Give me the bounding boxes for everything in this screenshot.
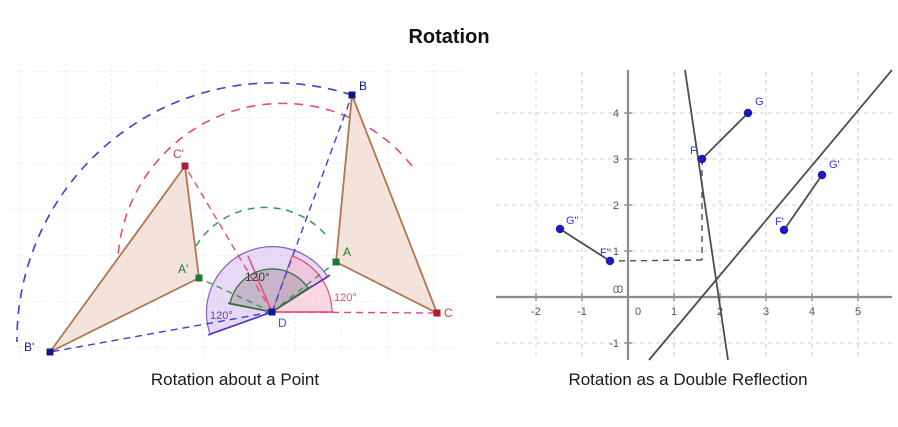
label-fdprime: F'' xyxy=(600,247,611,259)
right-canvas-background xyxy=(478,62,898,362)
label-g: G xyxy=(755,96,764,108)
y-tick-label-3: 1 xyxy=(613,246,619,258)
right-diagram-svg: -2 -1 0 1 2 3 4 5 4 3 2 1 0 -1 F G F' G'… xyxy=(478,62,898,362)
label-d: D xyxy=(278,316,287,330)
label-aprime: A' xyxy=(178,262,188,276)
point-gdprime[interactable] xyxy=(556,225,564,233)
label-c: C xyxy=(444,306,453,320)
label-bprime: B' xyxy=(24,340,34,354)
label-gprime: G' xyxy=(829,159,840,171)
point-gprime[interactable] xyxy=(818,171,826,179)
vertex-c[interactable] xyxy=(434,310,441,317)
vertex-b[interactable] xyxy=(349,92,356,99)
vertex-bprime[interactable] xyxy=(47,349,54,356)
label-a: A xyxy=(343,245,351,259)
rotation-as-a-double-reflection-figure: -2 -1 0 1 2 3 4 5 4 3 2 1 0 -1 F G F' G'… xyxy=(478,62,898,362)
y-tick-label-5: -1 xyxy=(609,338,619,350)
y-tick-label-2: 2 xyxy=(613,200,619,212)
point-g[interactable] xyxy=(744,109,752,117)
x-tick-label-1: -1 xyxy=(577,306,587,318)
label-b: B xyxy=(359,79,367,93)
caption-rotation-as-double-reflection: Rotation as a Double Reflection xyxy=(478,370,898,390)
label-fprime: F' xyxy=(775,216,784,228)
label-cprime: C' xyxy=(173,147,184,161)
dashed-intersection-to-fdprime xyxy=(610,260,702,261)
vertex-a[interactable] xyxy=(333,259,340,266)
angle-label-left: 120° xyxy=(210,310,233,322)
angle-label-top: 120° xyxy=(245,270,270,284)
vertex-cprime[interactable] xyxy=(182,163,189,170)
x-tick-label-2: 0 xyxy=(635,306,641,318)
x-tick-label-3: 1 xyxy=(671,306,677,318)
vertex-aprime[interactable] xyxy=(196,275,203,282)
rotation-about-a-point-figure: B C' C A A' B' D 120° 120° 120° xyxy=(0,62,470,362)
y-tick-label-1: 3 xyxy=(613,154,619,166)
angle-label-right: 120° xyxy=(334,292,357,304)
caption-rotation-about-a-point: Rotation about a Point xyxy=(0,370,470,390)
vertex-d[interactable] xyxy=(269,309,276,316)
y-tick-label-0: 4 xyxy=(613,108,619,120)
page-title: Rotation xyxy=(0,26,898,49)
point-f[interactable] xyxy=(698,155,706,163)
origin-label: 0 xyxy=(617,284,623,296)
x-tick-label-7: 5 xyxy=(855,306,861,318)
x-tick-label-0: -2 xyxy=(531,306,541,318)
label-gdprime: G'' xyxy=(566,215,579,227)
left-diagram-svg: B C' C A A' B' D 120° 120° 120° xyxy=(0,62,470,362)
x-tick-label-5: 3 xyxy=(763,306,769,318)
label-f: F xyxy=(690,145,697,157)
x-tick-label-6: 4 xyxy=(809,306,815,318)
